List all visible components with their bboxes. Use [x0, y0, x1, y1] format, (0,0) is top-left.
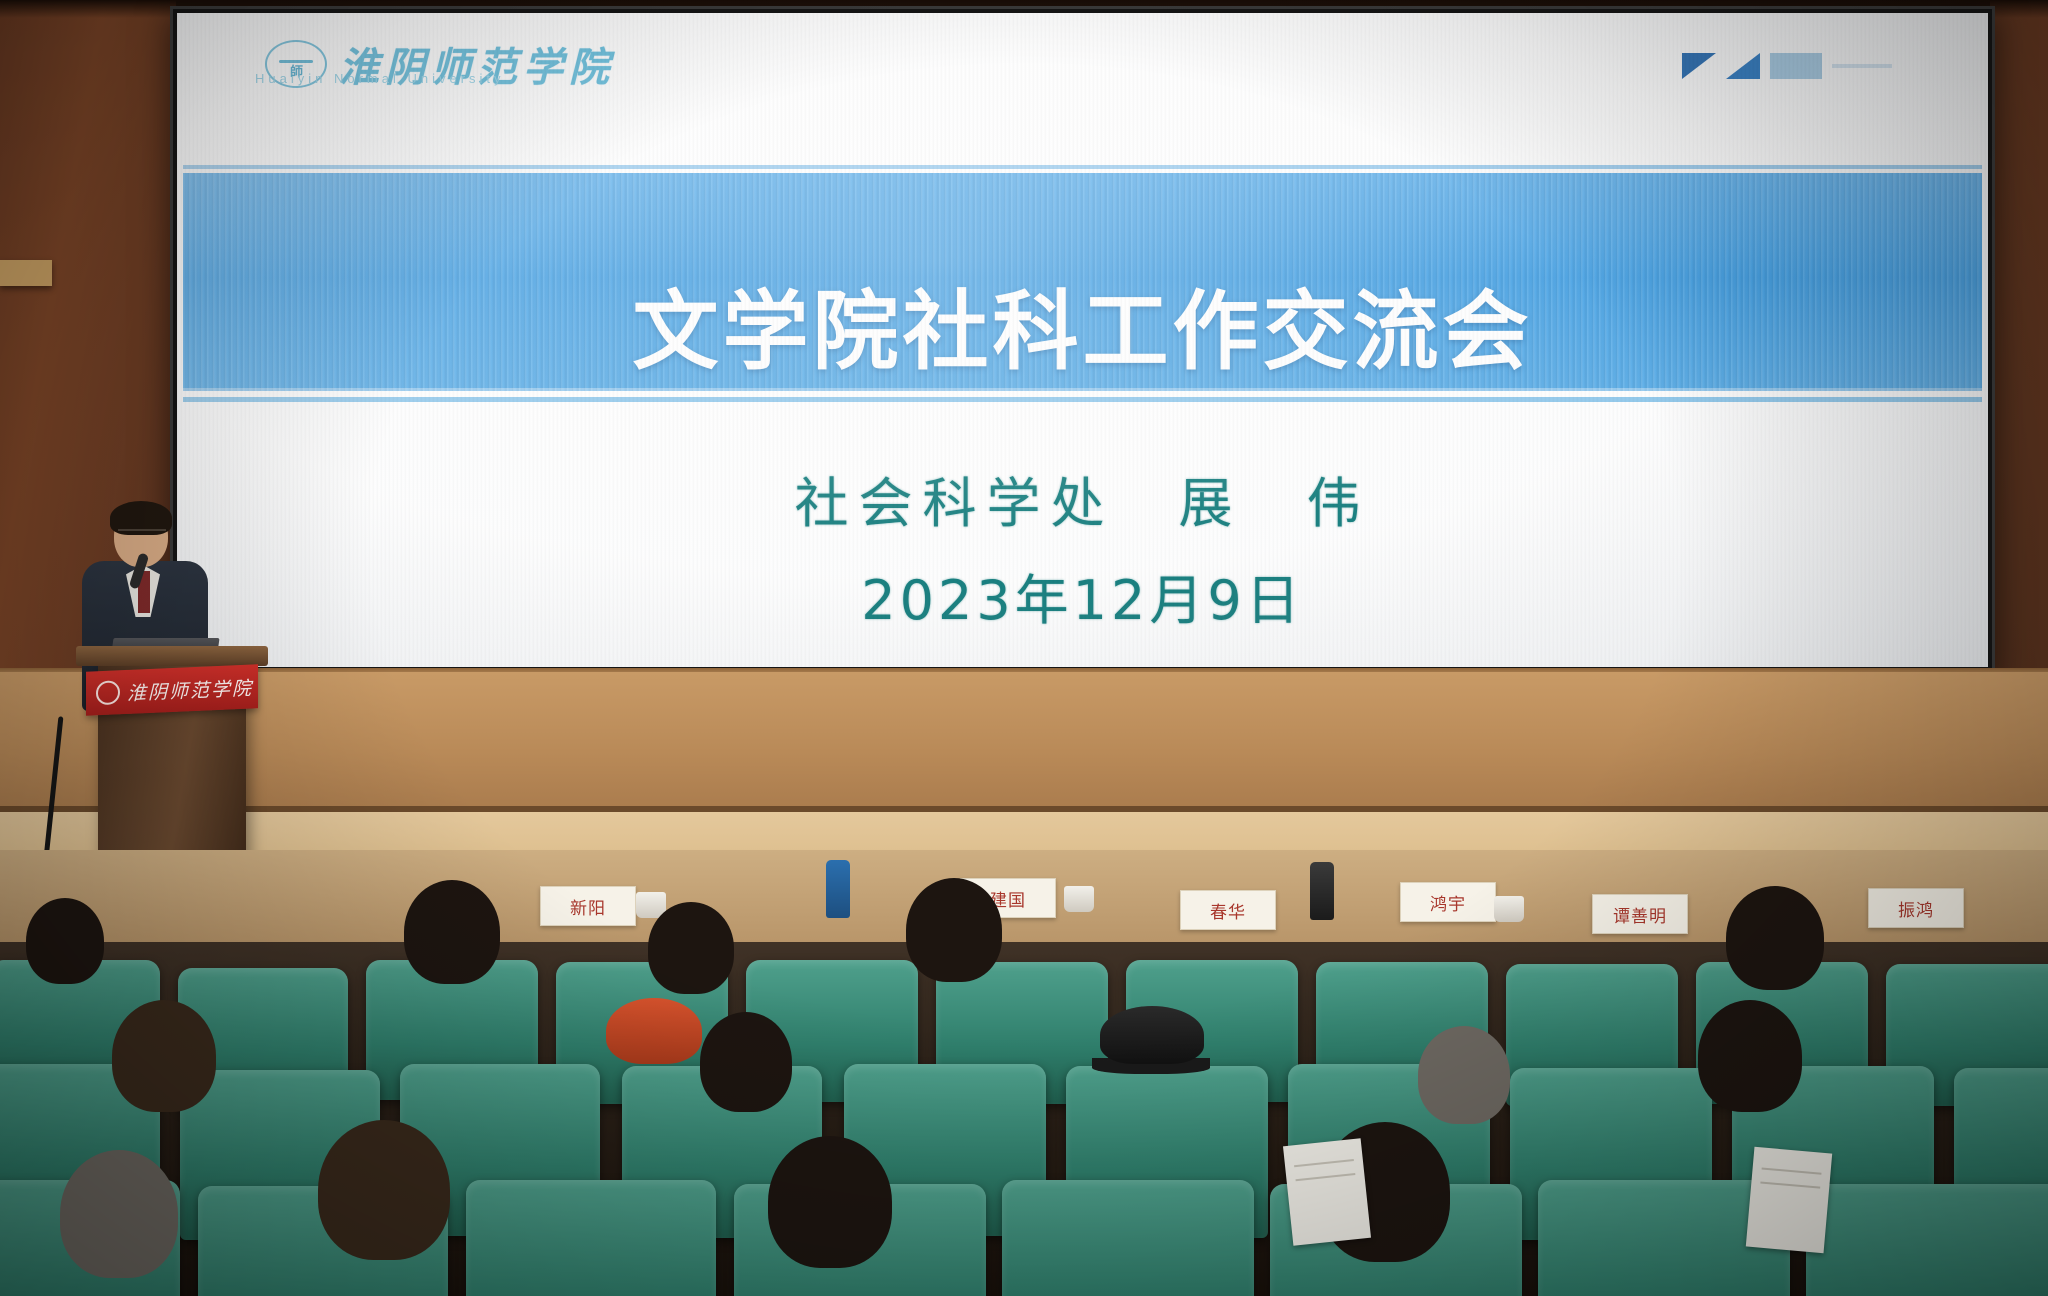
- audience-head: [1418, 1026, 1510, 1124]
- audience-head: [112, 1000, 216, 1112]
- water-bottle: [826, 860, 850, 918]
- handout-paper: [1746, 1147, 1832, 1253]
- band-top-rule: [183, 165, 1982, 169]
- square-block-icon: [1770, 53, 1822, 79]
- black-cap: [1100, 1006, 1204, 1064]
- audience-area: 新阳建国春华鸿宇谭善明振鸿: [0, 850, 2048, 1296]
- audience-head: [26, 898, 104, 984]
- audience-head: [60, 1150, 178, 1278]
- podium-desktop: [76, 646, 268, 666]
- band-bottom-rule: [183, 397, 1982, 402]
- podium-seal-icon: [96, 680, 120, 705]
- thermos-bottle: [1310, 862, 1334, 920]
- audience-head: [648, 902, 734, 994]
- audience-head: [318, 1120, 450, 1260]
- audience-head: [700, 1012, 792, 1112]
- slide-presenter: 社会科学处 展 伟: [177, 459, 1988, 538]
- seat: [1002, 1180, 1254, 1296]
- photo-scene: 師 淮阴师范学院 Huaiyin Normal University 文学院社科…: [0, 0, 2048, 1296]
- seat: [466, 1180, 716, 1296]
- tea-cup: [1064, 886, 1094, 912]
- tea-cup: [1494, 896, 1524, 922]
- attendee-name-card: 振鸿: [1868, 888, 1964, 928]
- projection-screen-frame: 師 淮阴师范学院 Huaiyin Normal University 文学院社科…: [170, 6, 1995, 674]
- audience-head: [906, 878, 1002, 982]
- audience-head: [1698, 1000, 1802, 1112]
- triangle-right-icon: [1726, 53, 1760, 79]
- podium-banner: 淮阴师范学院: [86, 664, 258, 716]
- attendee-name-card: 新阳: [540, 886, 636, 926]
- handout-paper: [1283, 1138, 1371, 1246]
- right-wall: [1990, 0, 2048, 690]
- attendee-name-card: 鸿宇: [1400, 882, 1496, 922]
- speaker-glasses: [118, 529, 166, 540]
- slide-title-band: 文学院社科工作交流会: [183, 173, 1982, 391]
- attendee-name-card: 春华: [1180, 890, 1276, 930]
- rule-line: [1832, 64, 1892, 68]
- stage-back-wall: [0, 672, 2048, 818]
- projection-screen: 師 淮阴师范学院 Huaiyin Normal University 文学院社科…: [177, 13, 1988, 667]
- slide-body: 社会科学处 展 伟 2023年12月9日: [177, 459, 1988, 635]
- audience-head: [404, 880, 500, 984]
- slide-date: 2023年12月9日: [177, 556, 1988, 635]
- slide-decoration: [1682, 53, 1892, 79]
- podium-banner-text: 淮阴师范学院: [127, 673, 253, 706]
- red-hat: [606, 998, 702, 1064]
- slide-title: 文学院社科工作交流会: [633, 289, 1533, 391]
- audience-head: [768, 1136, 892, 1268]
- wall-trim: [0, 260, 52, 286]
- triangle-left-icon: [1682, 53, 1716, 79]
- audience-head: [1726, 886, 1824, 990]
- seat: [1806, 1184, 2048, 1296]
- university-name-en: Huaiyin Normal University: [255, 71, 505, 86]
- attendee-name-card: 谭善明: [1592, 894, 1688, 934]
